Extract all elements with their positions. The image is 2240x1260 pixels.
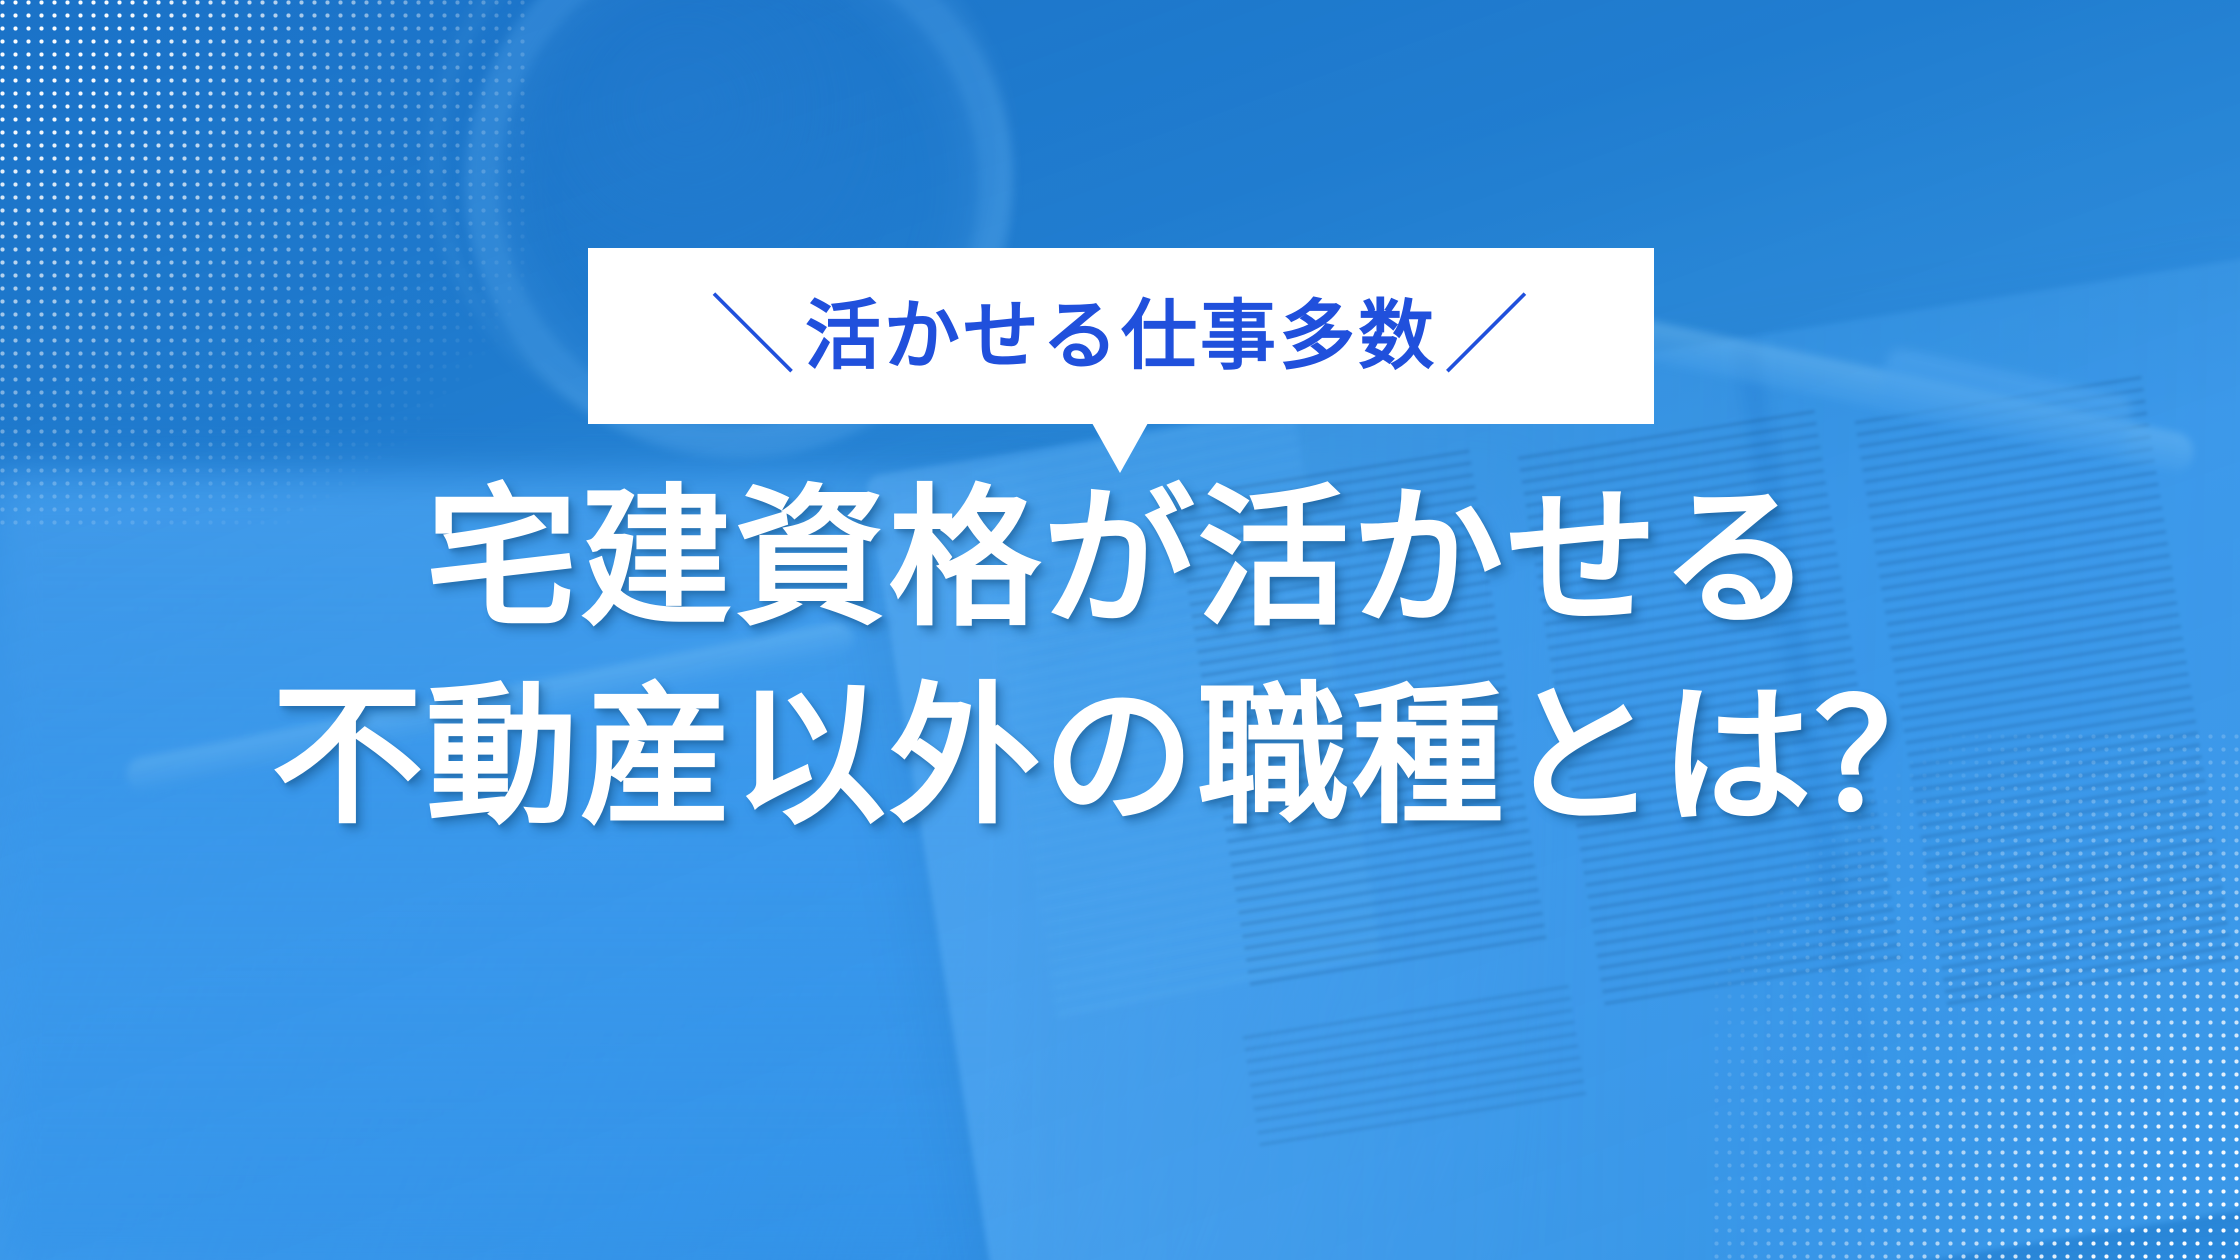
article-header-banner: ＼ 活かせる仕事多数 ／ 宅建資格が活かせる 不動産以外の職種とは？: [0, 0, 2240, 1260]
headline-line-2: 不動産以外の職種とは？: [0, 658, 2240, 856]
badge-slash-right-icon: ／: [1443, 293, 1532, 379]
badge-label: 活かせる仕事多数: [805, 298, 1437, 374]
badge-slash-left-icon: ＼: [710, 293, 799, 379]
page-title: 宅建資格が活かせる 不動産以外の職種とは？: [0, 460, 2240, 855]
badge-text-group: ＼ 活かせる仕事多数 ／: [710, 293, 1532, 379]
badge-callout: ＼ 活かせる仕事多数 ／: [588, 248, 1654, 424]
headline-line-1: 宅建資格が活かせる: [0, 460, 2240, 658]
